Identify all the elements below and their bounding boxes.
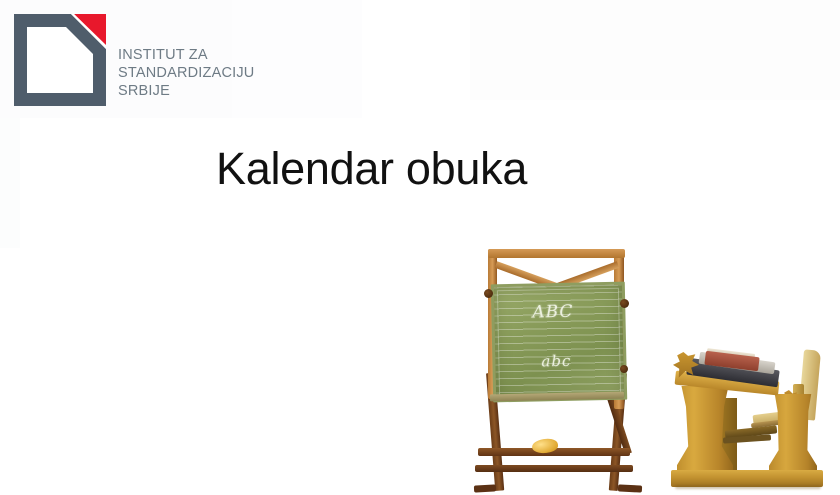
background-panel	[470, 0, 840, 100]
page-title: Kalendar obuka	[216, 141, 527, 197]
easel-pivot-knob	[620, 365, 628, 373]
antique-school-desk	[665, 336, 840, 495]
institut-logo-mark	[14, 14, 106, 106]
slide-canvas: INSTITUT ZA STANDARDIZACIJU SRBIJE Kalen…	[0, 0, 840, 495]
logo-line-2: STANDARDIZACIJU	[118, 64, 254, 82]
easel-crossbar	[475, 465, 633, 472]
logo-wordmark: INSTITUT ZA STANDARDIZACIJU SRBIJE	[118, 46, 254, 100]
desk-base-shadow	[675, 485, 821, 489]
logo-line-1: INSTITUT ZA	[118, 46, 254, 64]
easel-top-rail	[488, 249, 625, 258]
illustration-group: ABC abc	[470, 243, 840, 495]
wooden-easel-chalkboard: ABC abc	[470, 243, 645, 495]
logo-line-3: SRBIJE	[118, 82, 254, 100]
easel-pivot-knob	[620, 299, 629, 308]
green-chalkboard: ABC abc	[491, 282, 627, 403]
easel-foot-left	[474, 484, 496, 492]
logo: INSTITUT ZA STANDARDIZACIJU SRBIJE	[14, 14, 254, 114]
easel-pivot-knob	[484, 289, 493, 298]
chalk-text-lowercase: abc	[541, 352, 571, 371]
background-panel	[0, 118, 20, 248]
easel-foot-right	[618, 484, 642, 492]
chalk-text-uppercase: ABC	[532, 302, 574, 323]
